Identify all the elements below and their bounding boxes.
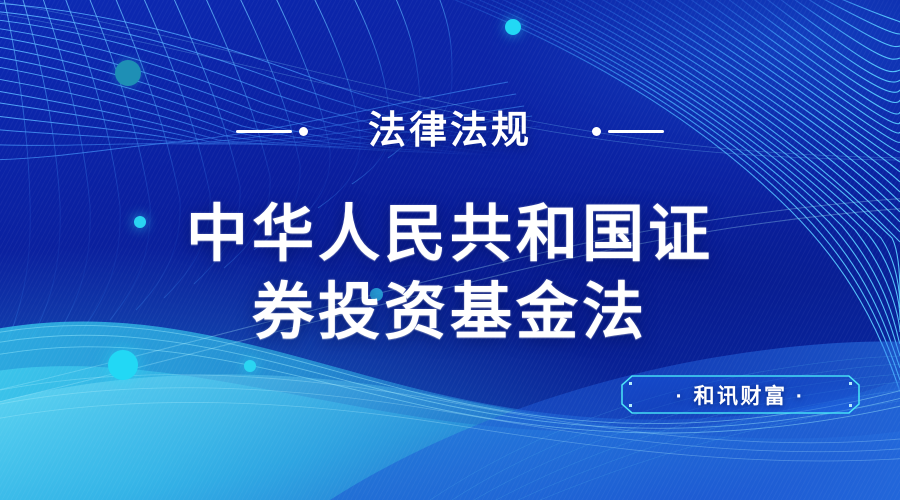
decorative-dot-icon [299, 127, 308, 136]
decorative-line-icon [608, 130, 664, 133]
decorative-rule-left [236, 127, 308, 136]
page-title: 中华人民共和国证 券投资基金法 [0, 196, 900, 352]
page-title-line-1: 中华人民共和国证 [0, 196, 900, 274]
page-title-line-2: 券投资基金法 [0, 274, 900, 352]
subtitle-label: 法律法规 [368, 112, 532, 150]
brand-badge-label: · 和讯财富 · [621, 375, 860, 414]
banner-root: 法律法规 中华人民共和国证 券投资基金法 [0, 0, 900, 500]
decorative-dot-icon [592, 127, 601, 136]
brand-badge[interactable]: · 和讯财富 · [621, 375, 860, 414]
decorative-rule-right [592, 127, 664, 136]
banner-content: 法律法规 中华人民共和国证 券投资基金法 [0, 0, 900, 500]
subtitle-row: 法律法规 [0, 112, 900, 150]
decorative-line-icon [236, 130, 292, 133]
